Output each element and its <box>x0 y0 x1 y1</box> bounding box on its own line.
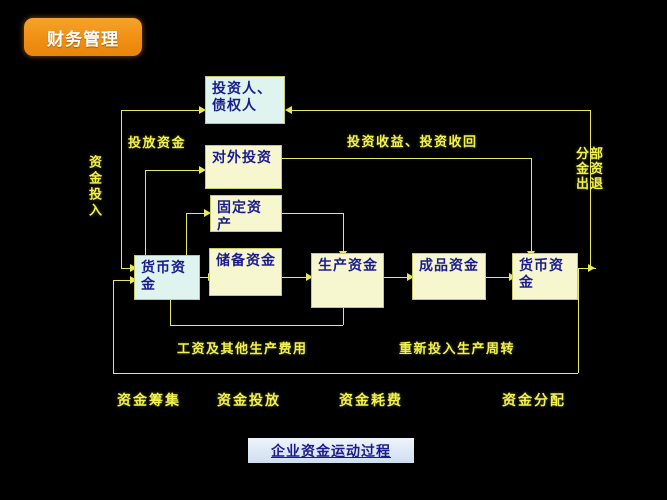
label-invest-capital: 投放资金 <box>128 132 186 151</box>
node-monetary-funds-end[interactable]: 货币资金 <box>512 253 578 300</box>
label-wages-and-costs: 工资及其他生产费用 <box>177 338 308 357</box>
label-investment-return: 投资收益、投资收回 <box>347 131 478 150</box>
node-monetary-funds-start-label: 货币资金 <box>141 260 186 293</box>
node-reserve-funds-label: 储备资金 <box>216 253 276 269</box>
conn-production-to-finished <box>384 277 409 278</box>
conn-bottom-loop-h <box>113 373 578 374</box>
node-external-investment-label: 对外投资 <box>212 150 272 166</box>
conn-branch-fixed-h <box>186 213 205 214</box>
conn-invest-top-h <box>121 110 199 111</box>
exit-char-a3: 退 <box>590 178 603 193</box>
conn-fixed-to-prod-v <box>343 213 344 253</box>
exit-char-a1: 部 <box>590 148 603 163</box>
diagram-canvas: 财务管理 投资 <box>0 0 667 500</box>
node-production-funds[interactable]: 生产资金 <box>311 253 384 308</box>
conn-bottom-loop-v-right <box>578 268 579 373</box>
stage-label-distribute: 资金分配 <box>502 390 566 410</box>
node-external-investment[interactable]: 对外投资 <box>205 145 282 189</box>
exit-char-b1: 分 <box>576 148 589 163</box>
conn-branch-external-h <box>145 170 199 171</box>
conn-wages-v-right <box>343 308 344 325</box>
arrow-return-to-investors <box>285 106 292 114</box>
node-fixed-assets[interactable]: 固定资产 <box>210 195 282 232</box>
conn-wages-v-left <box>170 300 171 325</box>
node-monetary-funds-start[interactable]: 货币资金 <box>134 255 200 300</box>
label-partial-capital-exit-col-b: 分 金 出 <box>576 148 589 193</box>
stage-label-deploy: 资金投放 <box>217 390 281 410</box>
node-monetary-funds-end-label: 货币资金 <box>519 258 564 291</box>
label-capital-input: 资金投入 <box>84 155 103 251</box>
node-fixed-assets-label: 固定资产 <box>217 200 262 232</box>
footer-caption: 企业资金运动过程 <box>248 438 414 463</box>
label-partial-capital-exit: 部 资 退 分 金 出 <box>576 148 603 193</box>
node-investors-label: 投资人、债权人 <box>212 81 272 114</box>
node-reserve-funds[interactable]: 储备资金 <box>209 248 282 296</box>
conn-external-return-h <box>282 158 532 159</box>
header-title: 财务管理 <box>47 25 119 50</box>
node-finished-goods-funds[interactable]: 成品资金 <box>412 253 486 300</box>
footer-caption-text: 企业资金运动过程 <box>271 441 391 461</box>
stage-label-consume: 资金耗费 <box>339 390 403 410</box>
conn-fixed-to-prod-h <box>282 213 344 214</box>
conn-reserve-to-production <box>282 277 308 278</box>
conn-invest-trunk-v <box>121 110 122 268</box>
conn-top-return-h <box>292 110 590 111</box>
header-chip: 财务管理 <box>24 18 142 56</box>
node-production-funds-label: 生产资金 <box>318 258 378 274</box>
conn-bottom-loop-into-money <box>113 280 131 281</box>
conn-wages-h <box>170 325 343 326</box>
node-finished-goods-funds-label: 成品资金 <box>419 258 479 274</box>
conn-finished-to-money-end <box>486 277 511 278</box>
exit-char-a2: 资 <box>590 163 603 178</box>
conn-external-return-v <box>531 158 532 253</box>
exit-char-b2: 金 <box>576 163 589 178</box>
conn-branch-external-v <box>145 170 146 268</box>
node-investors[interactable]: 投资人、债权人 <box>205 76 285 124</box>
label-reinvest-cycle: 重新投入生产周转 <box>399 338 515 357</box>
arrow-money-end-outlet <box>588 264 595 272</box>
exit-char-b3: 出 <box>576 178 589 193</box>
label-partial-capital-exit-col-a: 部 资 退 <box>590 148 603 193</box>
conn-bottom-loop-v-left <box>113 280 114 373</box>
stage-label-raise: 资金筹集 <box>117 390 181 410</box>
